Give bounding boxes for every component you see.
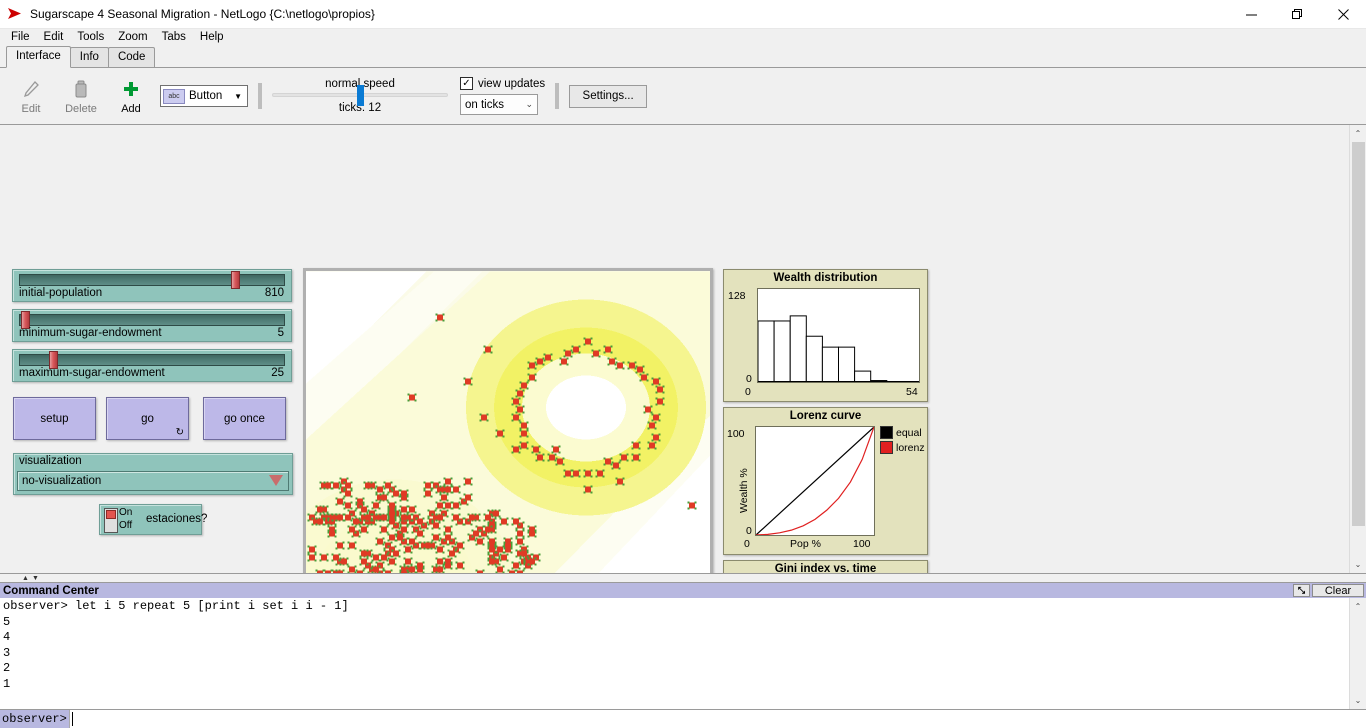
plot-title: Wealth distribution (724, 270, 927, 284)
slider-maximum-sugar-endowment[interactable]: maximum-sugar-endowment 25 (12, 349, 292, 382)
chevron-down-icon: ⌄ (525, 99, 533, 110)
menu-tabs[interactable]: Tabs (155, 29, 193, 47)
delete-widget-label: Delete (65, 103, 97, 115)
edit-widget-label: Edit (22, 103, 41, 115)
scrollbar-track[interactable] (1350, 142, 1366, 556)
menu-zoom-label: Zoom (118, 31, 147, 43)
netlogo-logo-icon (0, 0, 30, 29)
command-center-body: observer> let i 5 repeat 5 [print i set … (0, 598, 1366, 709)
pencil-icon (22, 78, 40, 100)
button-widget-icon: abc (163, 89, 185, 104)
chooser-label: visualization (19, 455, 82, 467)
speed-slider-thumb[interactable] (357, 85, 364, 106)
slider-value: 5 (278, 327, 284, 339)
tab-code-label: Code (118, 51, 146, 63)
plot-lorenz-curve[interactable]: Lorenz curve 100 0 Wealth % 0 Pop % 100 … (723, 407, 928, 555)
tab-info[interactable]: Info (70, 47, 109, 67)
command-center-expand-button[interactable]: ⤡ (1293, 584, 1310, 597)
command-center-header: Command Center ⤡ Clear (0, 583, 1366, 598)
scroll-up-icon[interactable]: ⌃ (1350, 125, 1366, 142)
menu-edit[interactable]: Edit (37, 29, 71, 47)
menu-file-label: File (11, 31, 30, 43)
switch-lever[interactable] (104, 508, 118, 533)
plot-title: Gini index vs. time (724, 561, 927, 573)
legend-swatch-lorenz (880, 441, 893, 454)
widget-canvas[interactable]: initial-population 810 minimum-sugar-end… (0, 125, 1349, 573)
update-mode-dropdown[interactable]: on ticks ⌄ (460, 94, 538, 115)
slider-label: initial-population (19, 287, 102, 299)
chooser-visualization[interactable]: visualization no-visualization (13, 453, 293, 495)
command-center-agent-label[interactable]: observer> (0, 710, 69, 728)
splitter-up-icon[interactable]: ▲ (22, 575, 29, 582)
text-caret (72, 712, 73, 726)
forever-icon: ↻ (176, 427, 184, 438)
chevron-down-icon: ▼ (234, 92, 242, 101)
setup-button-label: setup (40, 413, 68, 425)
plot-canvas (755, 426, 875, 536)
menu-zoom[interactable]: Zoom (111, 29, 154, 47)
slider-label: maximum-sugar-endowment (19, 367, 165, 379)
command-center: Command Center ⤡ Clear observer> let i 5… (0, 582, 1366, 728)
button-widget-icon-label: abc (168, 93, 179, 100)
plot-xtick-max: 100 (853, 538, 871, 550)
legend-label-lorenz: lorenz (896, 442, 925, 454)
interface-toolbar: Edit Delete Add abc Button ▼ (0, 68, 1366, 125)
legend-item-lorenz: lorenz (880, 441, 925, 454)
view-updates-group: ✓ view updates on ticks ⌄ (460, 77, 545, 115)
command-center-output: observer> let i 5 repeat 5 [print i set … (0, 598, 1349, 709)
chooser-value-box[interactable]: no-visualization (17, 471, 289, 491)
plot-xtick-max: 54 (906, 386, 918, 398)
command-center-scrollbar[interactable]: ⌃ ⌄ (1349, 598, 1366, 709)
legend-swatch-equal (880, 426, 893, 439)
settings-button[interactable]: Settings... (569, 85, 647, 108)
delete-widget-button[interactable]: Delete (56, 71, 106, 121)
chevron-down-icon (269, 475, 283, 486)
view-updates-checkbox[interactable]: ✓ (460, 77, 473, 90)
add-widget-label: Add (121, 103, 141, 115)
world-view-canvas[interactable] (306, 271, 710, 573)
legend-item-equal: equal (880, 426, 925, 439)
chooser-value: no-visualization (22, 475, 101, 487)
plus-icon (122, 78, 140, 100)
scroll-up-icon[interactable]: ⌃ (1350, 598, 1366, 615)
speed-slider-group: normal speed ticks: 12 (272, 78, 448, 114)
slider-track (19, 314, 285, 326)
plot-wealth-distribution[interactable]: Wealth distribution 128 0 0 54 (723, 269, 928, 402)
plot-ytick-min: 0 (746, 373, 752, 385)
interface-area: initial-population 810 minimum-sugar-end… (0, 125, 1366, 573)
window-title: Sugarscape 4 Seasonal Migration - NetLog… (30, 7, 375, 21)
menu-edit-label: Edit (44, 31, 64, 43)
plot-svg (756, 427, 874, 535)
tab-interface[interactable]: Interface (6, 46, 71, 68)
splitter-down-icon[interactable]: ▼ (32, 575, 39, 582)
plot-xtick-min: 0 (744, 538, 750, 550)
scroll-down-icon[interactable]: ⌄ (1350, 692, 1366, 709)
world-view[interactable] (303, 268, 713, 573)
plot-canvas (757, 288, 920, 383)
sugarscape-render (306, 271, 710, 573)
update-mode-value: on ticks (465, 99, 504, 111)
switch-on-label: On (119, 506, 132, 519)
minimize-button[interactable] (1228, 0, 1274, 29)
plot-legend: equal lorenz (880, 426, 925, 456)
widget-type-value: Button (189, 90, 234, 102)
switch-onoff-labels: On Off (119, 506, 132, 532)
slider-thumb[interactable] (231, 271, 240, 289)
toolbar-separator-2 (555, 83, 559, 109)
menu-tools-label: Tools (77, 31, 104, 43)
legend-label-equal: equal (896, 427, 922, 439)
switch-estaciones[interactable]: On Off estaciones? (99, 504, 202, 535)
menu-bar: File Edit Tools Zoom Tabs Help (0, 29, 1366, 47)
plot-title: Lorenz curve (724, 408, 927, 422)
edit-widget-button[interactable]: Edit (6, 71, 56, 121)
speed-slider[interactable] (272, 93, 448, 97)
menu-help-label: Help (200, 31, 224, 43)
menu-tools[interactable]: Tools (70, 29, 111, 47)
menu-tabs-label: Tabs (162, 31, 186, 43)
tab-info-label: Info (80, 51, 99, 63)
view-updates-label: view updates (478, 78, 545, 90)
switch-off-label: Off (119, 519, 132, 532)
plot-ytick-min: 0 (746, 525, 752, 537)
tab-strip: Interface Info Code (0, 47, 1366, 68)
widget-type-dropdown[interactable]: abc Button ▼ (160, 85, 248, 107)
view-updates-row[interactable]: ✓ view updates (460, 77, 545, 90)
slider-value: 25 (271, 367, 284, 379)
trash-icon (74, 78, 88, 100)
scrollbar-track[interactable] (1350, 615, 1366, 692)
interface-scrollbar[interactable]: ⌃ ⌄ (1349, 125, 1366, 573)
slider-track (19, 354, 285, 366)
tab-code[interactable]: Code (108, 47, 156, 67)
slider-minimum-sugar-endowment[interactable]: minimum-sugar-endowment 5 (12, 309, 292, 342)
command-center-prompt-row: observer> (0, 709, 1366, 728)
add-widget-button[interactable]: Add (106, 71, 156, 121)
plot-ytick-max: 128 (728, 290, 746, 302)
switch-knob (106, 510, 116, 519)
plot-xtick-min: 0 (745, 386, 751, 398)
menu-help[interactable]: Help (193, 29, 231, 47)
close-button[interactable] (1320, 0, 1366, 29)
slider-label: minimum-sugar-endowment (19, 327, 162, 339)
command-center-clear-button[interactable]: Clear (1312, 584, 1364, 597)
slider-track (19, 274, 285, 286)
settings-button-label: Settings... (583, 90, 634, 102)
plot-ytick-max: 100 (727, 428, 745, 440)
go-button-label: go (141, 413, 154, 425)
go-button[interactable]: go ↻ (106, 397, 189, 440)
command-center-splitter[interactable]: ▲ ▼ (0, 573, 1366, 582)
plot-svg (758, 289, 919, 382)
plot-gini-index[interactable]: Gini index vs. time 1 0 Gini 0 Time 100 (723, 560, 928, 573)
plot-ylabel: Wealth % (738, 468, 750, 513)
plot-xlabel: Pop % (790, 538, 821, 550)
slider-value: 810 (265, 287, 284, 299)
tab-interface-label: Interface (16, 50, 61, 62)
setup-button[interactable]: setup (13, 397, 96, 440)
go-once-button[interactable]: go once (203, 397, 286, 440)
go-once-button-label: go once (224, 413, 265, 425)
scroll-down-icon[interactable]: ⌄ (1350, 556, 1366, 573)
command-center-title: Command Center (3, 585, 99, 597)
netlogo-window: Sugarscape 4 Seasonal Migration - NetLog… (0, 0, 1366, 728)
toolbar-separator-1 (258, 83, 262, 109)
window-controls (1228, 0, 1366, 29)
command-center-input[interactable] (69, 710, 1366, 728)
title-bar: Sugarscape 4 Seasonal Migration - NetLog… (0, 0, 1366, 29)
slider-initial-population[interactable]: initial-population 810 (12, 269, 292, 302)
scrollbar-thumb[interactable] (1352, 142, 1365, 526)
menu-file[interactable]: File (4, 29, 37, 47)
switch-label: estaciones? (146, 513, 207, 525)
maximize-button[interactable] (1274, 0, 1320, 29)
